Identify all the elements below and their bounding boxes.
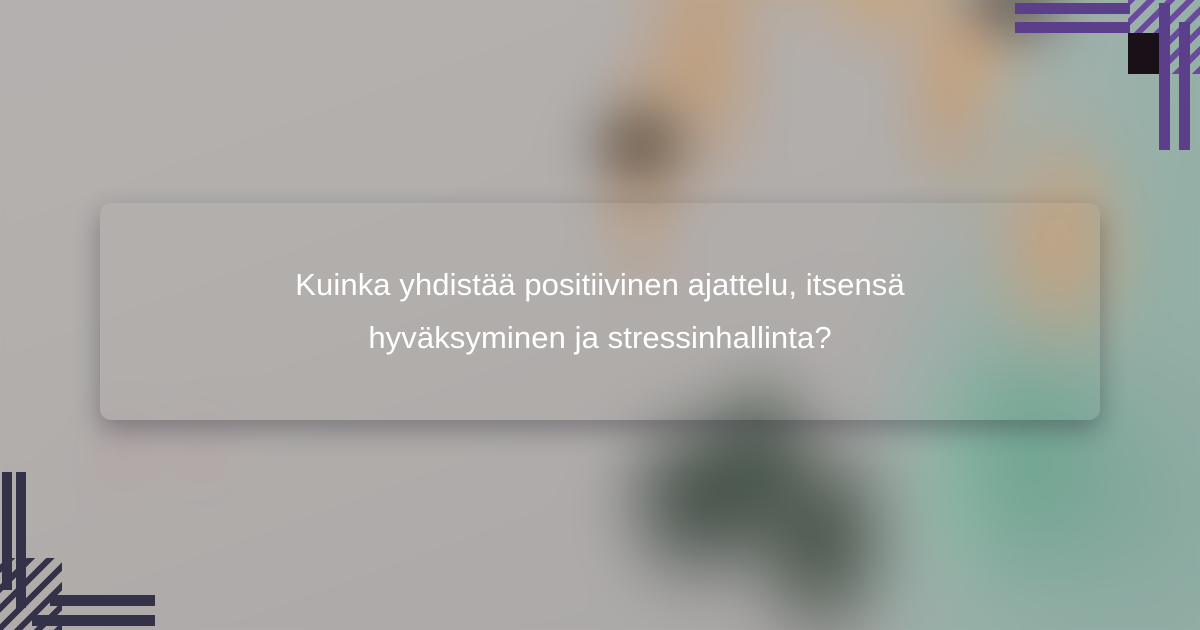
share-card: Kuinka yhdistää positiivinen ajattelu, i… (0, 0, 1200, 630)
page-title: Kuinka yhdistää positiivinen ajattelu, i… (220, 259, 980, 363)
title-banner: Kuinka yhdistää positiivinen ajattelu, i… (100, 203, 1100, 420)
